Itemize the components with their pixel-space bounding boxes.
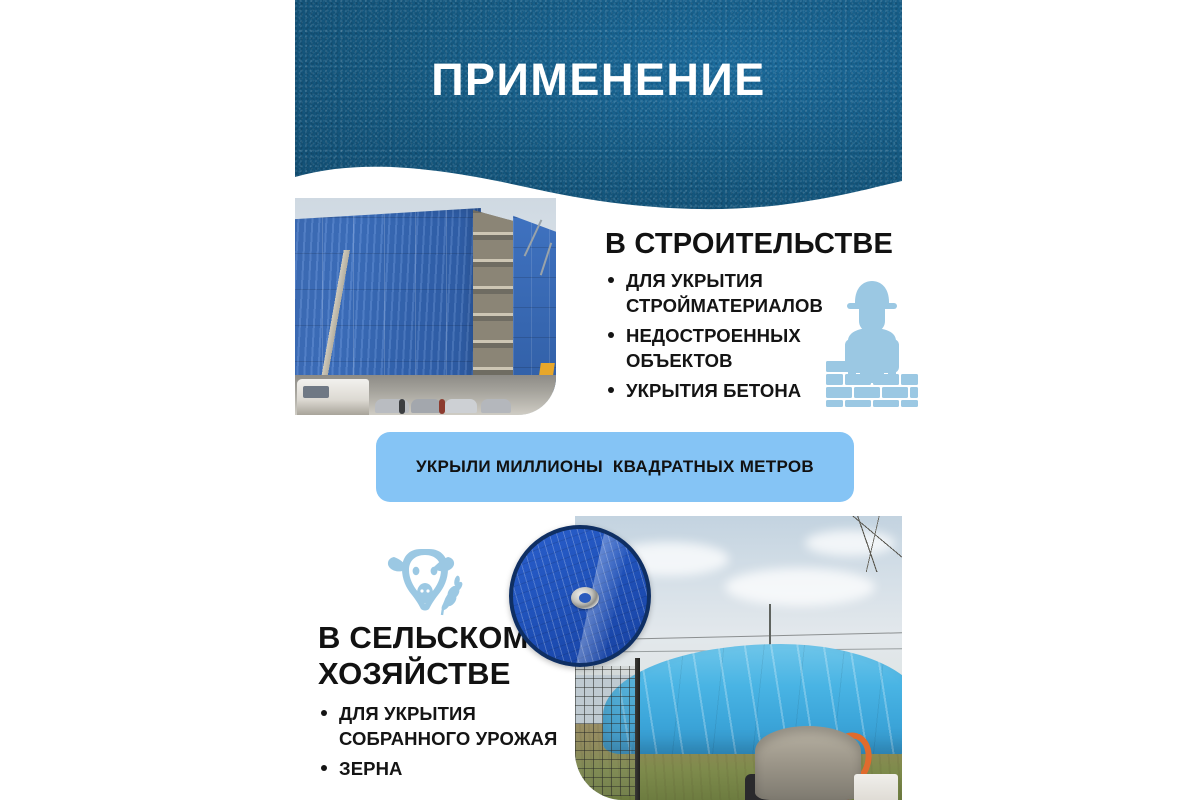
construction-photo [295,198,556,415]
photo-tree-branch [828,516,902,572]
list-item: ЗЕРНА [318,756,588,781]
coverage-banner: УКРЫЛИ МИЛЛИОНЫ КВАДРАТНЫХ МЕТРОВ [376,432,854,502]
inset-metal-grommet [571,587,599,609]
poster-canvas: ПРИМЕНЕНИЕ В СТРОИТЕЛЬСТВЕ ДЛЯ УКРЫТИЯ С… [0,0,1200,800]
tarp-grommet-inset-photo [509,525,651,667]
photo-car [445,399,477,413]
page-title: ПРИМЕНЕНИЕ [295,56,902,103]
photo-person [399,399,405,414]
mason-bricklayer-icon [826,275,918,407]
photo-fence-post [635,658,640,800]
construction-heading: В СТРОИТЕЛЬСТВЕ [605,228,905,261]
header-banner: ПРИМЕНЕНИЕ [295,0,902,215]
photo-concrete-ring [755,726,861,800]
photo-crane-boom [303,250,369,378]
photo-building-frame [473,202,517,402]
list-item: ДЛЯ УКРЫТИЯ СОБРАННОГО УРОЖАЯ [318,701,588,751]
photo-person [439,399,445,414]
photo-car [481,399,511,413]
photo-cloud [725,568,875,606]
photo-white-van [297,379,369,415]
agriculture-bullet-list: ДЛЯ УКРЫТИЯ СОБРАННОГО УРОЖАЯ ЗЕРНА [318,701,588,781]
cow-wheat-icon [386,541,464,619]
photo-white-bucket [854,774,898,800]
photo-car [411,399,441,413]
coverage-banner-text: УКРЫЛИ МИЛЛИОНЫ КВАДРАТНЫХ МЕТРОВ [416,457,814,477]
